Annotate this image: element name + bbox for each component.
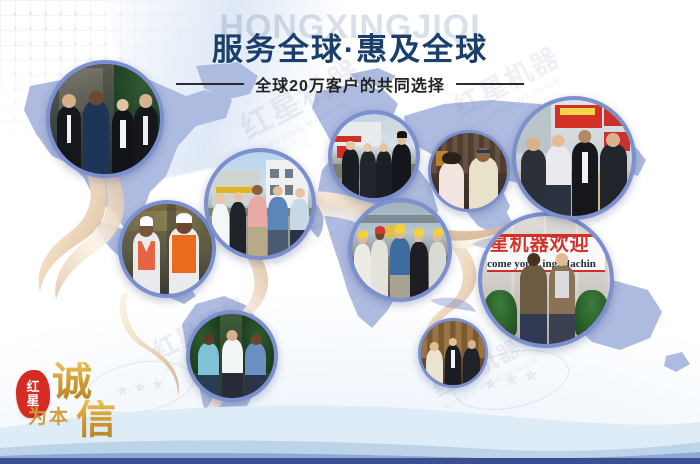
photo-frame: [208, 152, 312, 256]
banner-text-cn: 星机器欢迎: [490, 235, 603, 257]
photo-frame: [332, 114, 416, 198]
divider-left: [176, 83, 244, 85]
photo-frame: [190, 314, 274, 398]
photo-bubble-plant-gate-group-photo[interactable]: [204, 148, 316, 260]
scene-exhibition-booth-group: [332, 114, 416, 198]
photo-frame: [122, 204, 212, 294]
scene-plant-gate-group-photo: [208, 152, 312, 256]
logo-char-cheng: 诚: [52, 362, 92, 402]
logo-char-weiben: 为本: [28, 408, 70, 428]
page-title: 服务全球·惠及全球: [212, 24, 488, 69]
photo-bubble-customer-trio-lobby[interactable]: [186, 310, 278, 402]
subtitle-row: 全球20万客户的共同选择: [176, 72, 524, 96]
scene-site-inspection-hardhats: [352, 202, 448, 298]
photo-frame: [431, 133, 507, 209]
divider-right: [456, 83, 524, 85]
scene-customer-couple-portrait: [431, 133, 507, 209]
photo-frame: [352, 202, 448, 298]
photo-bubble-expo-hall-four-men[interactable]: [512, 96, 636, 220]
poster-canvas: 红星机器 HONGXING MACHINE 红星机器 HONGXING MACH…: [0, 0, 700, 464]
photo-frame: 星机器欢迎 come you…ing Machin: [482, 216, 610, 344]
scene-welcome-banner-two-men: 星机器欢迎 come you…ing Machin: [482, 216, 610, 344]
seal-char-1: 红: [26, 380, 39, 394]
page-subtitle: 全球20万客户的共同选择: [255, 72, 445, 96]
photo-bubble-conference-room-group[interactable]: [418, 318, 488, 388]
banner-text-en: come you…ing Machin: [487, 258, 607, 272]
company-logo[interactable]: 红 星 诚 为本 信: [14, 358, 134, 450]
scene-customer-trio-lobby: [190, 314, 274, 398]
photo-bubble-site-inspection-hardhats[interactable]: [348, 198, 452, 302]
photo-frame: [516, 100, 632, 216]
photo-bubble-factory-visit-safety-vest[interactable]: [118, 200, 216, 298]
photo-bubble-exhibition-booth-group[interactable]: [328, 110, 420, 202]
photo-bubble-customer-couple-portrait[interactable]: [428, 130, 510, 212]
scene-expo-hall-four-men: [516, 100, 632, 216]
seal-char-2: 星: [26, 394, 39, 408]
scene-factory-visit-safety-vest: [122, 204, 212, 294]
scene-conference-room-group: [421, 321, 485, 385]
logo-char-xin: 信: [76, 400, 116, 440]
poster-header: HONGXINGJIQI 服务全球·惠及全球 全球20万客户的共同选择: [0, 0, 700, 100]
photo-frame: [421, 321, 485, 385]
photo-bubble-welcome-banner-two-men[interactable]: 星机器欢迎 come you…ing Machin: [478, 212, 614, 348]
